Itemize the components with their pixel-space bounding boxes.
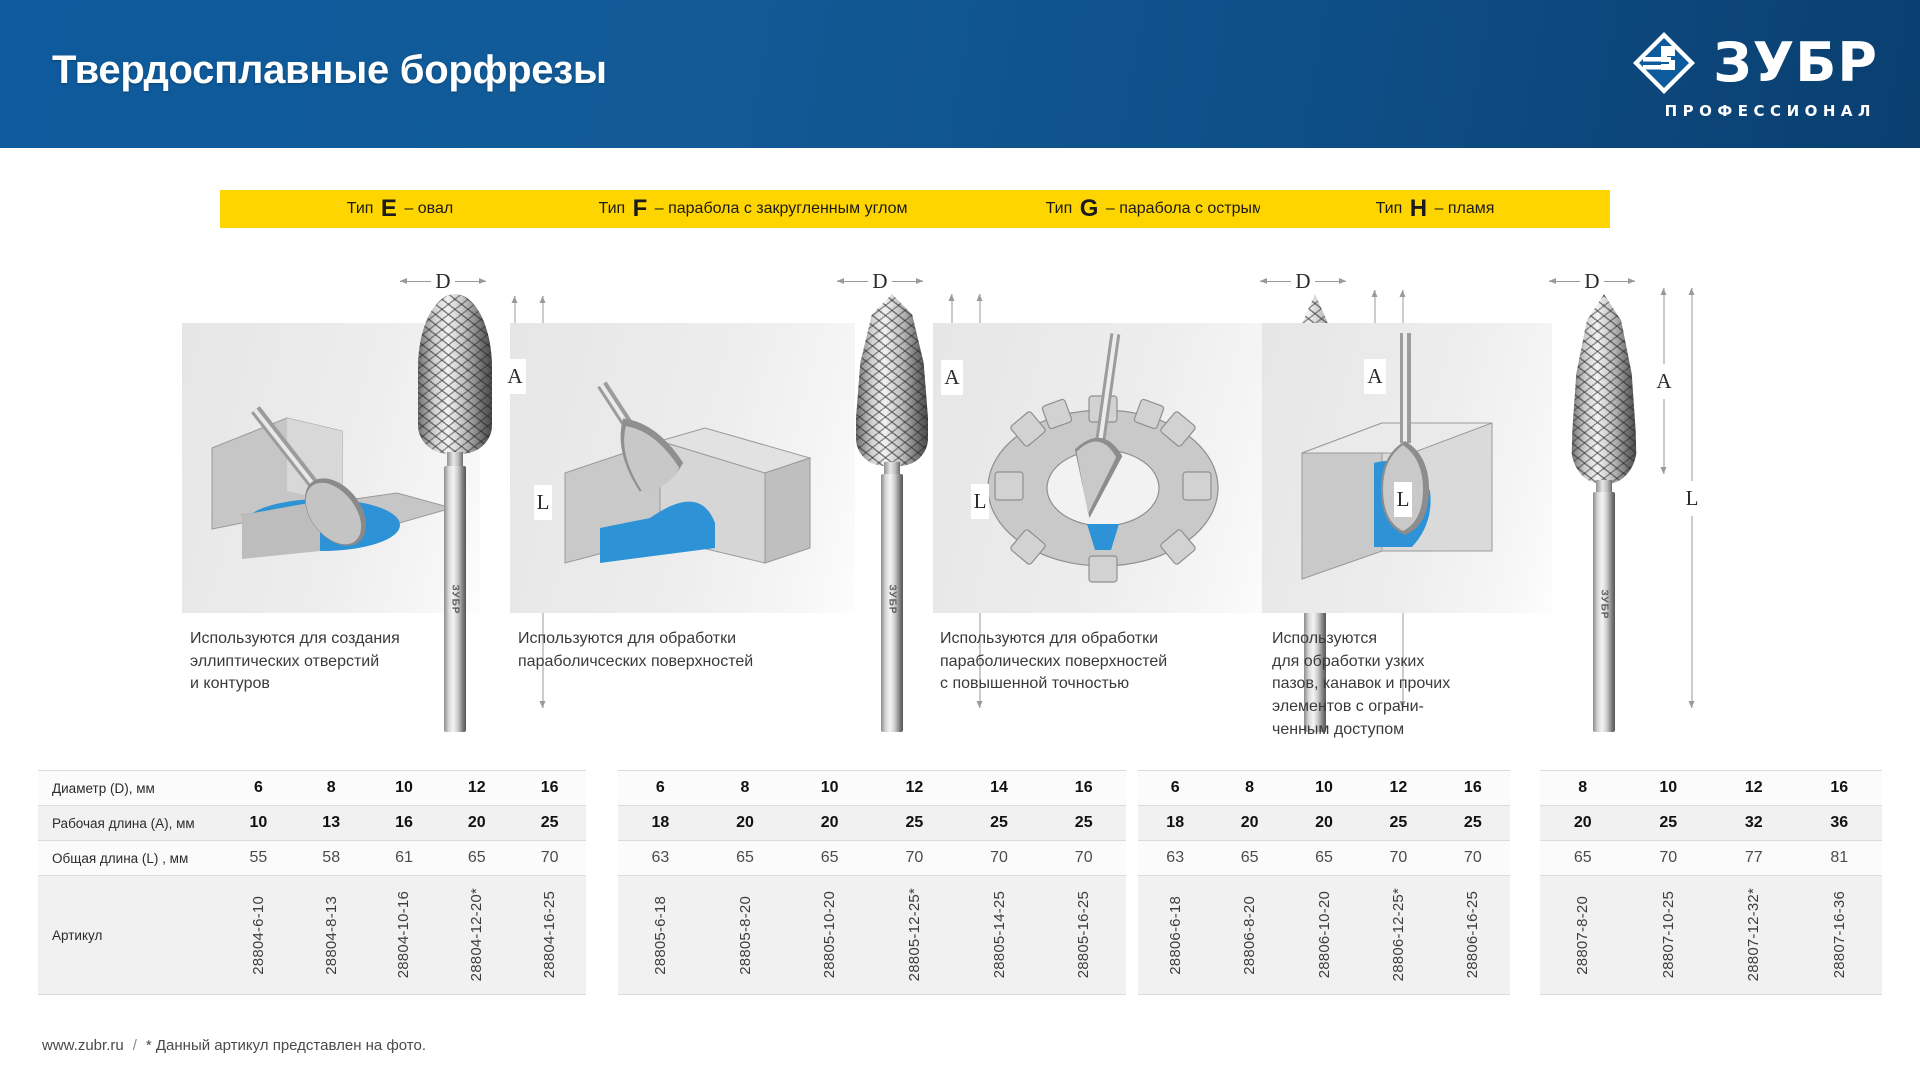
table-cell: 70	[1361, 841, 1435, 875]
table-cell: 6	[1138, 771, 1212, 805]
table-cell: 13	[295, 806, 368, 840]
table-cell: 18	[1138, 806, 1212, 840]
table-cell: 70	[513, 841, 586, 875]
table-row-total-length: 65 70 77 81	[1540, 841, 1882, 876]
page-footer: www.zubr.ru/* Данный артикул представлен…	[42, 1037, 426, 1054]
dimension-label-l: L	[534, 485, 553, 520]
type-prefix: Тип	[1046, 200, 1073, 218]
table-cell-article: 28806-6-18	[1138, 876, 1212, 994]
table-cell: 70	[1626, 841, 1712, 875]
dimension-label-l: L	[971, 484, 990, 519]
dimension-label-d: D	[431, 269, 454, 294]
table-row-total-length: 63 65 65 70 70 70	[618, 841, 1126, 876]
table-cell: 25	[1626, 806, 1712, 840]
type-header-f: Тип F – парабола с закругленным углом	[508, 190, 998, 228]
table-cell-article: 28805-10-20	[787, 876, 872, 994]
table-cell: 20	[1212, 806, 1286, 840]
table-cell: 12	[1711, 771, 1797, 805]
burr-body-f: ЗУБР	[853, 294, 931, 734]
table-cell: 12	[872, 771, 957, 805]
table-row-diameter: 6 8 10 12 14 16	[618, 770, 1126, 806]
table-row-diameter: 6 8 10 12 16	[1138, 770, 1510, 806]
dimension-label-a: A	[1364, 359, 1385, 394]
product-columns: Тип E – овал Используются для создания э…	[0, 148, 1920, 1028]
table-cell: 10	[787, 771, 872, 805]
table-cell-article: 28804-12-20*	[440, 876, 513, 994]
dimension-label-d: D	[1291, 269, 1314, 294]
logo-wordmark: ЗУБР	[1713, 36, 1878, 90]
table-cell: 12	[440, 771, 513, 805]
type-prefix: Тип	[599, 200, 626, 218]
dimension-label-a: A	[504, 359, 525, 394]
usage-description-h: Используются для обработки узких пазов, …	[1272, 628, 1462, 742]
type-letter: H	[1407, 197, 1430, 221]
type-letter: E	[378, 197, 400, 221]
dimension-d-g: D	[1260, 270, 1346, 292]
spec-table-h: 8 10 12 16 20 25 32 36 65 70	[1540, 770, 1882, 995]
burr-body-h: ЗУБР	[1565, 294, 1643, 734]
table-cell: 6	[618, 771, 703, 805]
table-cell: 8	[1540, 771, 1626, 805]
application-illustration-f	[510, 323, 855, 613]
usage-description-g: Используются для обработки параболически…	[940, 628, 1230, 696]
dimension-d-f: D	[837, 270, 923, 292]
table-cell: 16	[368, 806, 441, 840]
dimension-label-d: D	[1580, 269, 1603, 294]
usage-description-f: Используются для обработки параболичсеск…	[518, 628, 818, 673]
table-cell: 63	[1138, 841, 1212, 875]
type-letter: F	[630, 197, 651, 221]
table-cell: 70	[957, 841, 1042, 875]
footer-separator: /	[124, 1037, 146, 1054]
table-cell: 16	[1797, 771, 1883, 805]
table-cell-article: 28806-16-25	[1436, 876, 1510, 994]
dimension-l-h: L	[1675, 288, 1709, 708]
table-cell: 70	[1436, 841, 1510, 875]
table-cell-article: 28805-6-18	[618, 876, 703, 994]
table-cell: 70	[872, 841, 957, 875]
table-row-article: 28805-6-18 28805-8-20 28805-10-20 28805-…	[618, 876, 1126, 995]
table-cell: 61	[368, 841, 441, 875]
table-cell: 8	[1212, 771, 1286, 805]
spec-table-e: Диаметр (D), мм 6 8 10 12 16 Рабочая дли…	[38, 770, 586, 995]
table-cell: 70	[1041, 841, 1126, 875]
table-cell: 12	[1361, 771, 1435, 805]
table-cell: 20	[1540, 806, 1626, 840]
table-cell: 16	[1041, 771, 1126, 805]
table-cell: 55	[222, 841, 295, 875]
product-photo-h: D ЗУБР A L	[1535, 266, 1705, 736]
table-cell: 10	[1626, 771, 1712, 805]
page-title: Твердосплавные борфрезы	[52, 48, 607, 93]
table-cell: 65	[1287, 841, 1361, 875]
spec-table-g: 6 8 10 12 16 18 20 20 25 25	[1138, 770, 1510, 995]
table-cell: 20	[1287, 806, 1361, 840]
table-cell: 10	[222, 806, 295, 840]
table-cell: 18	[618, 806, 703, 840]
shank-brand-text: ЗУБР	[1599, 590, 1610, 620]
table-cell: 20	[440, 806, 513, 840]
table-cell: 16	[1436, 771, 1510, 805]
footer-website[interactable]: www.zubr.ru	[42, 1037, 124, 1054]
table-row-article: 28807-8-20 28807-10-25 28807-12-32* 2880…	[1540, 876, 1882, 995]
shank-brand-text: ЗУБР	[450, 585, 461, 615]
dimension-d-h: D	[1549, 270, 1635, 292]
page-header: Твердосплавные борфрезы ЗУБР ПРОФЕССИОНА…	[0, 0, 1920, 148]
dimension-label-l: L	[1683, 481, 1702, 516]
footer-note: * Данный артикул представлен на фото.	[146, 1037, 426, 1054]
table-cell-article: 28805-12-25*	[872, 876, 957, 994]
shank-brand-text: ЗУБР	[887, 585, 898, 615]
row-label-working-length: Рабочая длина (A), мм	[38, 806, 222, 840]
table-row-total-length: Общая длина (L) , мм 55 58 61 65 70	[38, 841, 586, 876]
brand-logo: ЗУБР ПРОФЕССИОНАЛ	[1631, 30, 1878, 120]
table-cell: 10	[1287, 771, 1361, 805]
table-cell: 65	[787, 841, 872, 875]
dimension-label-a: A	[1653, 364, 1674, 399]
table-row-working-length: 18 20 20 25 25 25	[618, 806, 1126, 841]
table-cell-article: 28807-12-32*	[1711, 876, 1797, 994]
table-row-article: Артикул 28804-6-10 28804-8-13 28804-10-1…	[38, 876, 586, 995]
table-cell-article: 28806-12-25*	[1361, 876, 1435, 994]
table-cell-article: 28804-10-16	[368, 876, 441, 994]
table-cell: 25	[957, 806, 1042, 840]
table-cell-article: 28804-8-13	[295, 876, 368, 994]
row-label-diameter: Диаметр (D), мм	[38, 771, 222, 805]
table-cell: 6	[222, 771, 295, 805]
table-cell: 25	[872, 806, 957, 840]
type-prefix: Тип	[1376, 200, 1403, 218]
table-row-working-length: Рабочая длина (A), мм 10 13 16 20 25	[38, 806, 586, 841]
table-cell-article: 28805-8-20	[703, 876, 788, 994]
table-cell: 25	[1041, 806, 1126, 840]
table-row-article: 28806-6-18 28806-8-20 28806-10-20 28806-…	[1138, 876, 1510, 995]
table-cell-article: 28807-8-20	[1540, 876, 1626, 994]
application-illustration-h	[1262, 323, 1552, 613]
table-cell: 65	[703, 841, 788, 875]
table-cell-article: 28807-10-25	[1626, 876, 1712, 994]
spec-table-f: 6 8 10 12 14 16 18 20 20 25 25 25	[618, 770, 1126, 995]
row-label-article: Артикул	[38, 876, 222, 994]
table-cell: 65	[1212, 841, 1286, 875]
table-cell-article: 28807-16-36	[1797, 876, 1883, 994]
table-cell: 8	[295, 771, 368, 805]
type-suffix: – парабола с закругленным углом	[655, 200, 908, 218]
table-cell: 36	[1797, 806, 1883, 840]
table-cell-article: 28804-6-10	[222, 876, 295, 994]
dimension-label-d: D	[868, 269, 891, 294]
dimension-d-e: D	[400, 270, 486, 292]
row-label-total-length: Общая длина (L) , мм	[38, 841, 222, 875]
table-row-diameter: Диаметр (D), мм 6 8 10 12 16	[38, 770, 586, 806]
burr-body-e: ЗУБР	[416, 294, 494, 734]
table-row-total-length: 63 65 65 70 70	[1138, 841, 1510, 876]
table-row-working-length: 20 25 32 36	[1540, 806, 1882, 841]
table-cell: 25	[1436, 806, 1510, 840]
table-cell-article: 28806-8-20	[1212, 876, 1286, 994]
table-cell: 65	[1540, 841, 1626, 875]
logo-tagline: ПРОФЕССИОНАЛ	[1665, 102, 1876, 120]
table-cell-article: 28805-14-25	[957, 876, 1042, 994]
table-cell-article: 28804-16-25	[513, 876, 586, 994]
type-letter: G	[1077, 197, 1102, 221]
application-illustration-g	[933, 323, 1273, 613]
table-cell: 58	[295, 841, 368, 875]
type-suffix: – пламя	[1435, 200, 1495, 218]
dimension-label-a: A	[941, 360, 962, 395]
type-header-h: Тип H – пламя	[1260, 190, 1610, 228]
table-row-working-length: 18 20 20 25 25	[1138, 806, 1510, 841]
table-cell: 81	[1797, 841, 1883, 875]
table-cell: 65	[440, 841, 513, 875]
table-cell-article: 28806-10-20	[1287, 876, 1361, 994]
table-cell: 16	[513, 771, 586, 805]
table-cell: 77	[1711, 841, 1797, 875]
table-cell: 20	[787, 806, 872, 840]
type-suffix: – овал	[404, 200, 453, 218]
table-cell: 63	[618, 841, 703, 875]
table-cell: 32	[1711, 806, 1797, 840]
table-cell: 8	[703, 771, 788, 805]
dimension-label-l: L	[1394, 482, 1413, 517]
table-cell: 14	[957, 771, 1042, 805]
table-cell: 20	[703, 806, 788, 840]
table-cell: 10	[368, 771, 441, 805]
zubr-diamond-arrow-icon	[1631, 30, 1697, 96]
type-prefix: Тип	[347, 200, 374, 218]
table-cell: 25	[1361, 806, 1435, 840]
table-cell-article: 28805-16-25	[1041, 876, 1126, 994]
table-cell: 25	[513, 806, 586, 840]
table-row-diameter: 8 10 12 16	[1540, 770, 1882, 806]
